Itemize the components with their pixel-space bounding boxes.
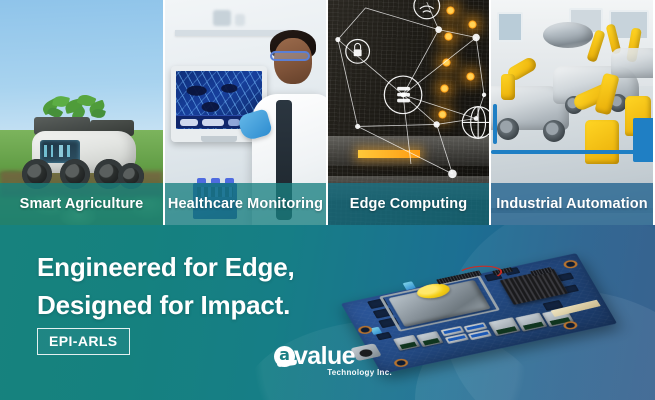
panel-label-industrial-automation: Industrial Automation bbox=[496, 196, 647, 212]
panel-healthcare-monitoring[interactable]: Healthcare Monitoring bbox=[163, 0, 326, 225]
panel-smart-agriculture[interactable]: Smart Agriculture bbox=[0, 0, 163, 225]
panel-label-smart-agriculture: Smart Agriculture bbox=[20, 196, 144, 212]
network-overlay-icon bbox=[328, 0, 489, 181]
product-banner: Smart Agriculture bbox=[0, 0, 655, 400]
panel-label-edge-computing: Edge Computing bbox=[350, 196, 467, 212]
panel-label-healthcare-monitoring: Healthcare Monitoring bbox=[168, 196, 323, 212]
application-panels: Smart Agriculture bbox=[0, 0, 655, 225]
logo-mark-letter: a bbox=[279, 347, 290, 363]
panel-label-bar: Edge Computing bbox=[328, 183, 489, 225]
panel-edge-computing[interactable]: Edge Computing bbox=[326, 0, 489, 225]
logo-wordmark: value bbox=[294, 344, 355, 369]
headline-line-1: Engineered for Edge, bbox=[37, 249, 295, 287]
agriculture-robot-icon bbox=[18, 113, 146, 187]
panel-industrial-automation[interactable]: Industrial Automation bbox=[489, 0, 653, 225]
panel-label-bar: Healthcare Monitoring bbox=[165, 183, 326, 225]
hero-headline: Engineered for Edge, Designed for Impact… bbox=[37, 249, 295, 325]
logo-mark-icon: a bbox=[274, 346, 295, 367]
panel-label-bar: Industrial Automation bbox=[491, 183, 653, 225]
avalue-logo[interactable]: a value Technology Inc. bbox=[274, 345, 392, 379]
model-badge[interactable]: EPI-ARLS bbox=[37, 328, 130, 355]
panel-label-bar: Smart Agriculture bbox=[0, 183, 163, 225]
headline-line-2: Designed for Impact. bbox=[37, 287, 295, 325]
